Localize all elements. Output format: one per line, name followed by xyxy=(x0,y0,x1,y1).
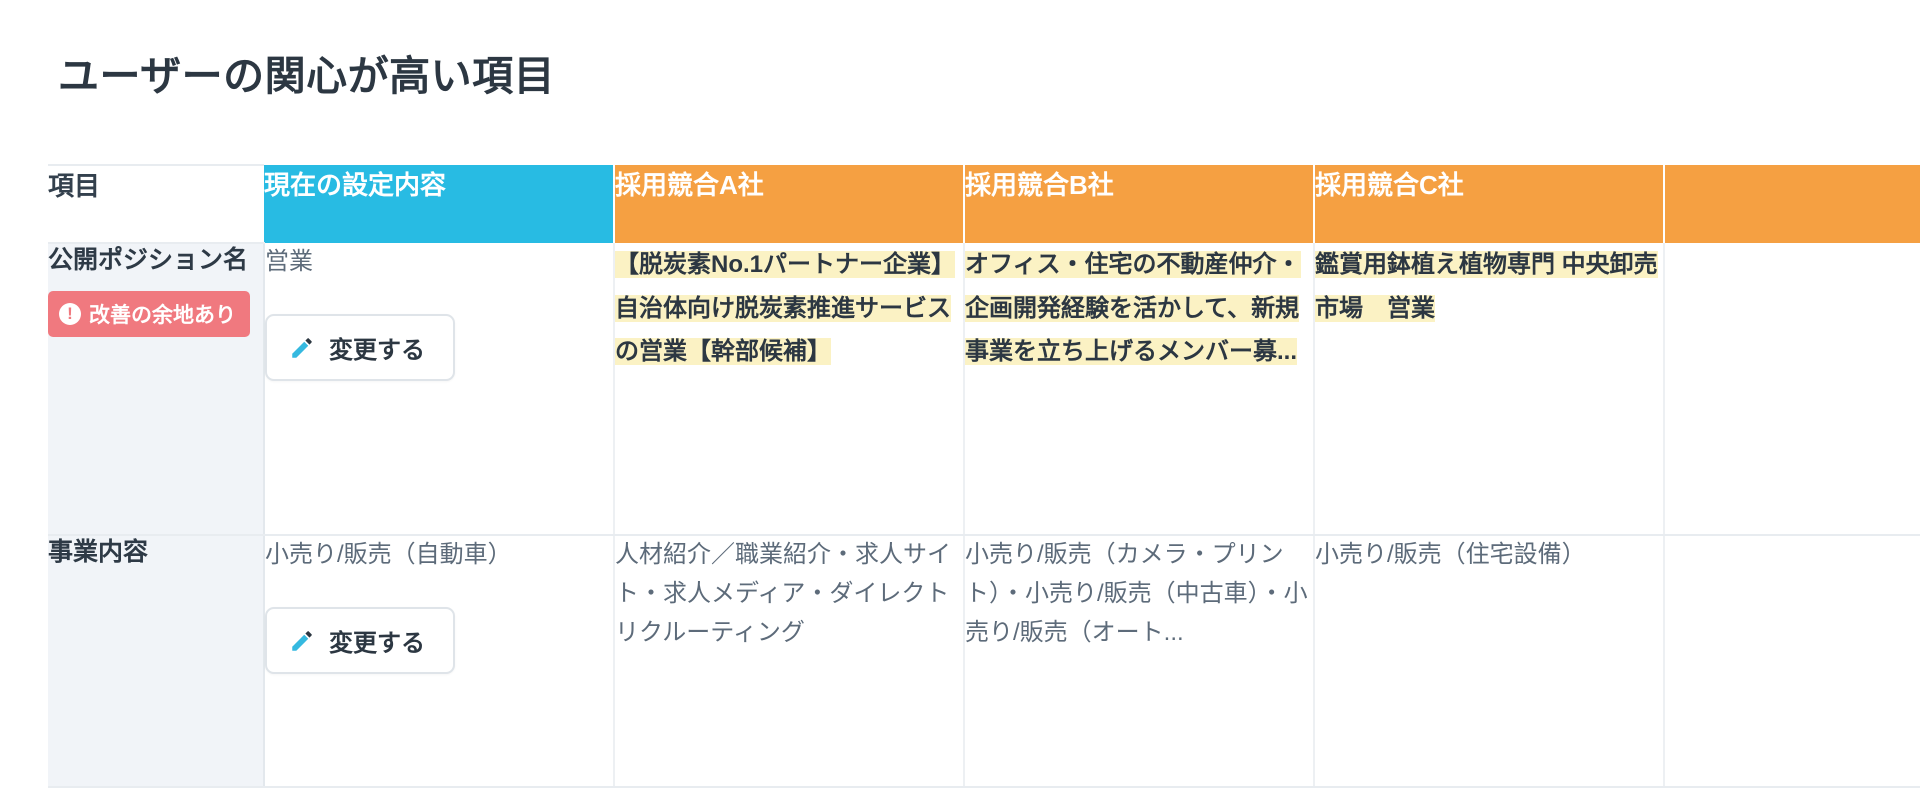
row-competitor-a-cell: 【脱炭素No.1パートナー企業】自治体向け脱炭素推進サービスの営業【幹部候補】 xyxy=(614,243,964,535)
change-button[interactable]: 変更する xyxy=(265,607,455,674)
row-item-label: 事業内容 xyxy=(48,536,263,569)
change-button-label: 変更する xyxy=(329,330,425,365)
competitor-a-value: 人材紹介／職業紹介・求人サイト・求人メディア・ダイレクトリクルーティング xyxy=(615,541,951,646)
row-competitor-b-cell: オフィス・住宅の不動産仲介・企画開発経験を活かして、新規事業を立ち上げるメンバー… xyxy=(964,243,1314,535)
row-competitor-a-cell: 人材紹介／職業紹介・求人サイト・求人メディア・ダイレクトリクルーティング xyxy=(614,535,964,787)
table-row: 公開ポジション名 ! 改善の余地あり 営業 xyxy=(48,243,1920,535)
column-header-competitor-b: 採用競合B社 xyxy=(964,165,1314,243)
comparison-page: ユーザーの関心が高い項目 項目 現在の設定内容 採用競合A社 採用競合B社 採用… xyxy=(0,0,1920,800)
exclamation-circle-icon: ! xyxy=(59,303,81,325)
competitor-a-value: 【脱炭素No.1パートナー企業】自治体向け脱炭素推進サービスの営業【幹部候補】 xyxy=(615,251,955,365)
current-value-text: 小売り/販売（自動車） xyxy=(265,536,613,573)
column-header-current: 現在の設定内容 xyxy=(264,165,614,243)
status-badge: ! 改善の余地あり xyxy=(48,291,250,337)
row-item-cell: 公開ポジション名 ! 改善の余地あり xyxy=(48,243,264,535)
pencil-icon xyxy=(289,628,315,654)
competitor-c-value: 小売り/販売（住宅設備） xyxy=(1315,541,1586,568)
comparison-table-container: 項目 現在の設定内容 採用競合A社 採用競合B社 採用競合C社 公開ポジション名… xyxy=(48,164,1920,804)
change-button-label: 変更する xyxy=(329,623,425,658)
page-title: ユーザーの関心が高い項目 xyxy=(58,52,555,101)
competitor-b-value: オフィス・住宅の不動産仲介・企画開発経験を活かして、新規事業を立ち上げるメンバー… xyxy=(965,251,1301,365)
row-competitor-b-cell: 小売り/販売（カメラ・プリント）・小売り/販売（中古車）・小売り/販売（オート.… xyxy=(964,535,1314,787)
row-competitor-d-cell xyxy=(1664,243,1920,535)
table-header-row: 項目 現在の設定内容 採用競合A社 採用競合B社 採用競合C社 xyxy=(48,165,1920,243)
row-competitor-c-cell: 鑑賞用鉢植え植物専門 中央卸売市場 営業 xyxy=(1314,243,1664,535)
current-value-text: 営業 xyxy=(265,243,613,280)
row-current-value-cell: 小売り/販売（自動車） 変更する xyxy=(264,535,614,787)
table-body: 公開ポジション名 ! 改善の余地あり 営業 xyxy=(48,243,1920,787)
change-button[interactable]: 変更する xyxy=(265,314,455,381)
table-header: 項目 現在の設定内容 採用競合A社 採用競合B社 採用競合C社 xyxy=(48,165,1920,243)
column-header-item: 項目 xyxy=(48,165,264,243)
status-badge-label: 改善の余地あり xyxy=(89,299,236,329)
row-item-cell: 事業内容 xyxy=(48,535,264,787)
column-header-competitor-a: 採用競合A社 xyxy=(614,165,964,243)
row-item-label: 公開ポジション名 xyxy=(48,244,263,277)
row-competitor-c-cell: 小売り/販売（住宅設備） xyxy=(1314,535,1664,787)
competitor-b-value: 小売り/販売（カメラ・プリント）・小売り/販売（中古車）・小売り/販売（オート.… xyxy=(965,541,1308,646)
column-header-competitor-d xyxy=(1664,165,1920,243)
competitor-c-value: 鑑賞用鉢植え植物専門 中央卸売市場 営業 xyxy=(1315,251,1658,322)
row-current-value-cell: 営業 変更する xyxy=(264,243,614,535)
pencil-icon xyxy=(289,335,315,361)
table-row: 事業内容 小売り/販売（自動車） 変更する xyxy=(48,535,1920,787)
row-competitor-d-cell xyxy=(1664,535,1920,787)
column-header-competitor-c: 採用競合C社 xyxy=(1314,165,1664,243)
comparison-table: 項目 現在の設定内容 採用競合A社 採用競合B社 採用競合C社 公開ポジション名… xyxy=(48,164,1920,788)
